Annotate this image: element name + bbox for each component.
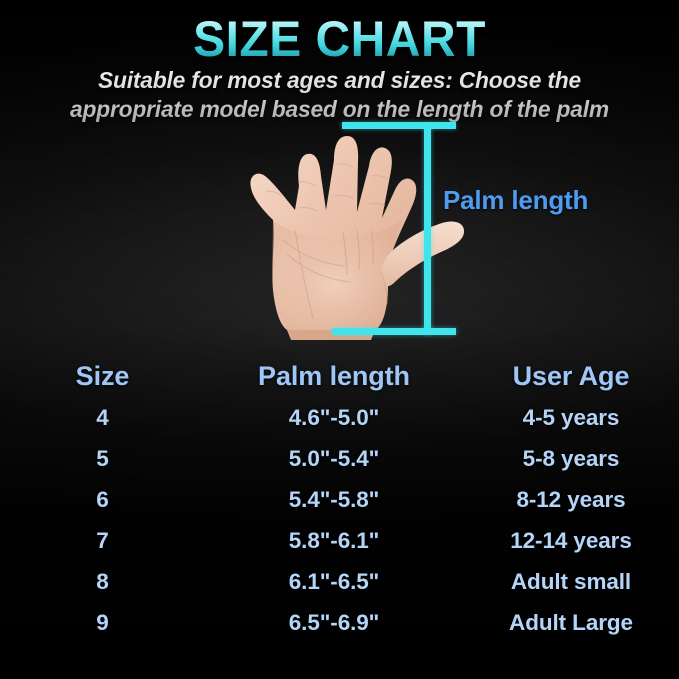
cell-user-age: 8-12 years <box>463 487 679 513</box>
measure-cap-top <box>342 122 456 129</box>
cell-palm-length: 5.0"-5.4" <box>205 446 463 472</box>
cell-palm-length: 5.4"-5.8" <box>205 487 463 513</box>
hand-svg <box>195 112 485 342</box>
cell-palm-length: 6.1"-6.5" <box>205 569 463 595</box>
cell-size: 4 <box>0 405 205 431</box>
table-row: 6 5.4"-5.8" 8-12 years <box>0 479 679 520</box>
cell-user-age: Adult small <box>463 569 679 595</box>
table-row: 4 4.6"-5.0" 4-5 years <box>0 397 679 438</box>
cell-palm-length: 4.6"-5.0" <box>205 405 463 431</box>
cell-palm-length: 6.5"-6.9" <box>205 610 463 636</box>
cell-user-age: 4-5 years <box>463 405 679 431</box>
cell-size: 7 <box>0 528 205 554</box>
cell-user-age: Adult Large <box>463 610 679 636</box>
table-row: 9 6.5"-6.9" Adult Large <box>0 602 679 643</box>
table-row: 5 5.0"-5.4" 5-8 years <box>0 438 679 479</box>
size-chart-table: Size Palm length User Age 4 4.6"-5.0" 4-… <box>0 356 679 643</box>
cell-size: 6 <box>0 487 205 513</box>
cell-palm-length: 5.8"-6.1" <box>205 528 463 554</box>
cell-size: 5 <box>0 446 205 472</box>
palm-length-annotation: Palm length <box>443 185 588 216</box>
cell-user-age: 5-8 years <box>463 446 679 472</box>
cell-size: 8 <box>0 569 205 595</box>
page-title: SIZE CHART <box>14 12 666 66</box>
column-header-user-age: User Age <box>463 361 679 392</box>
column-header-palm-length: Palm length <box>205 361 463 392</box>
cell-user-age: 12-14 years <box>463 528 679 554</box>
hand-illustration <box>195 112 485 342</box>
table-row: 7 5.8"-6.1" 12-14 years <box>0 520 679 561</box>
column-header-size: Size <box>0 361 205 392</box>
size-chart-image: SIZE CHART Suitable for most ages and si… <box>0 0 679 679</box>
table-header-row: Size Palm length User Age <box>0 356 679 397</box>
cell-size: 9 <box>0 610 205 636</box>
measure-line-vertical <box>424 124 431 334</box>
measure-cap-bottom <box>332 328 456 335</box>
table-row: 8 6.1"-6.5" Adult small <box>0 561 679 602</box>
